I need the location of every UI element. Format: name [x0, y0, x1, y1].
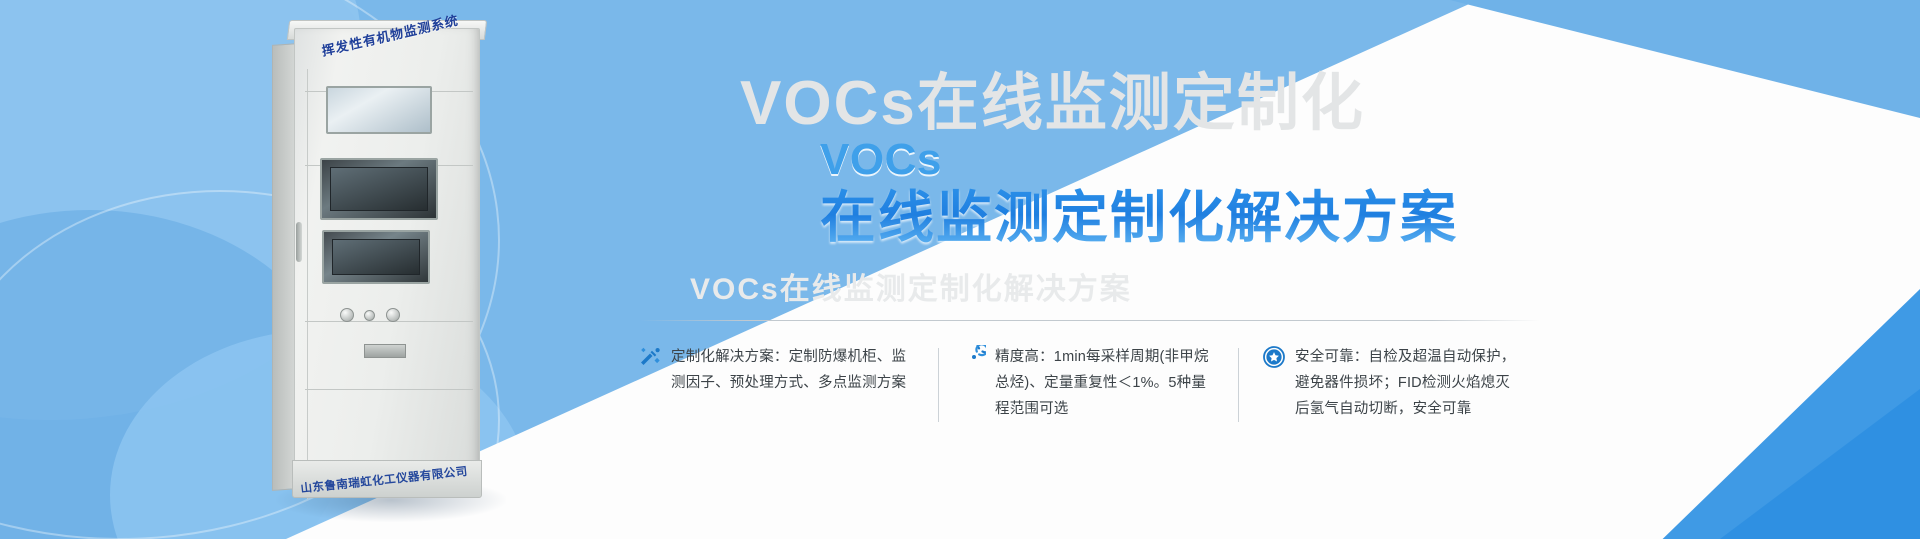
star-shield-icon [1262, 345, 1286, 369]
cabinet-view-window [326, 86, 432, 134]
cabinet-knob [364, 310, 375, 321]
cabinet-knob [386, 308, 400, 322]
cabinet-display-screen [322, 230, 430, 284]
cabinet-seam [307, 69, 308, 499]
feature-text: 精度高：1min每采样周期(非甲烷总烃)、定量重复性＜1%。5种量程范围可选 [995, 344, 1216, 422]
cabinet-display-screen [320, 158, 438, 220]
promo-banner: VOCs在线监测定制化 VOCs在线监测定制化解决方案 挥发性有机物监测系统 山… [0, 0, 1920, 539]
wrench-screwdriver-icon [638, 345, 662, 369]
ghost-headline-bottom: VOCs在线监测定制化解决方案 [690, 264, 1132, 308]
feature-text: 安全可靠：自检及超温自动保护，避免器件损坏；FID检测火焰熄灭后氢气自动切断，安… [1295, 344, 1516, 422]
cabinet-knob [340, 308, 354, 322]
headline-english: VOCs [820, 138, 1458, 182]
ghost-headline-top: VOCs在线监测定制化 [740, 52, 1365, 142]
feature-item: 定制化解决方案：定制防爆机柜、监测因子、预处理方式、多点监测方案 [638, 344, 938, 396]
headline-chinese: 在线监测定制化解决方案 [820, 188, 1458, 248]
feature-item: 安全可靠：自检及超温自动保护，避免器件损坏；FID检测火焰熄灭后氢气自动切断，安… [1238, 344, 1538, 422]
feature-list: 定制化解决方案：定制防爆机柜、监测因子、预处理方式、多点监测方案 精度高：1mi… [638, 344, 1538, 422]
product-photo: 挥发性有机物监测系统 山东鲁南瑞虹化工仪器有限公司 [268, 8, 508, 528]
screen-surface [330, 167, 428, 211]
headline-block: VOCs 在线监测定制化解决方案 [820, 138, 1458, 248]
target-precision-icon [962, 345, 986, 369]
cabinet-seam [305, 389, 473, 390]
feature-text: 定制化解决方案：定制防爆机柜、监测因子、预处理方式、多点监测方案 [671, 344, 916, 396]
cabinet-door-handle [296, 222, 302, 262]
cabinet-vent [364, 344, 406, 358]
feature-item: 精度高：1min每采样周期(非甲烷总烃)、定量重复性＜1%。5种量程范围可选 [938, 344, 1238, 422]
headline-divider [640, 320, 1540, 321]
screen-surface [332, 239, 420, 275]
